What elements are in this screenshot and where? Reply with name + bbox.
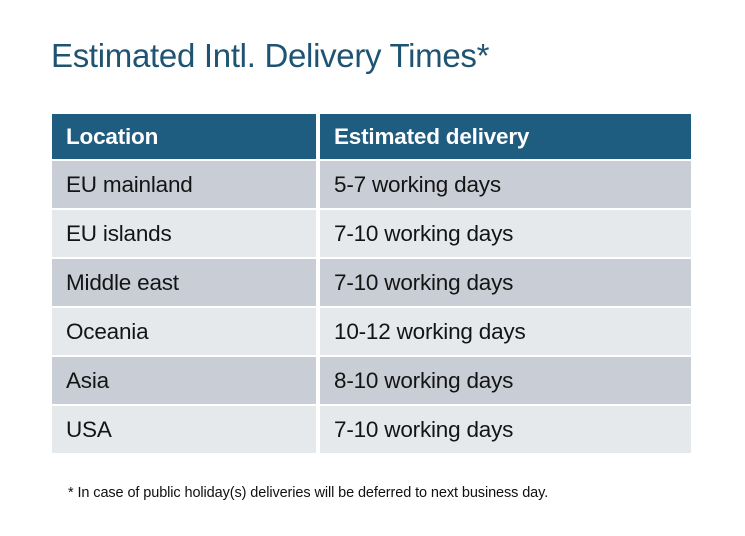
cell-location: USA (52, 406, 316, 453)
footnote-text: * In case of public holiday(s) deliverie… (68, 483, 548, 503)
cell-location: Oceania (52, 308, 316, 355)
cell-location: EU islands (52, 210, 316, 257)
table-row: Middle east 7-10 working days (52, 259, 691, 306)
column-header-location: Location (52, 114, 316, 159)
cell-estimated-delivery: 5-7 working days (320, 161, 691, 208)
cell-estimated-delivery: 7-10 working days (320, 259, 691, 306)
delivery-times-slide: Estimated Intl. Delivery Times* Location… (0, 0, 745, 536)
table-row: EU mainland 5-7 working days (52, 161, 691, 208)
table-header-row: Location Estimated delivery (52, 114, 691, 159)
table-row: Oceania 10-12 working days (52, 308, 691, 355)
table-row: USA 7-10 working days (52, 406, 691, 453)
cell-location: EU mainland (52, 161, 316, 208)
table-row: EU islands 7-10 working days (52, 210, 691, 257)
cell-estimated-delivery: 7-10 working days (320, 406, 691, 453)
estimated-delivery-table: Location Estimated delivery EU mainland … (52, 114, 691, 453)
cell-estimated-delivery: 8-10 working days (320, 357, 691, 404)
cell-estimated-delivery: 10-12 working days (320, 308, 691, 355)
column-header-estimated-delivery: Estimated delivery (320, 114, 691, 159)
cell-location: Middle east (52, 259, 316, 306)
page-title: Estimated Intl. Delivery Times* (51, 36, 489, 76)
cell-location: Asia (52, 357, 316, 404)
cell-estimated-delivery: 7-10 working days (320, 210, 691, 257)
table-row: Asia 8-10 working days (52, 357, 691, 404)
